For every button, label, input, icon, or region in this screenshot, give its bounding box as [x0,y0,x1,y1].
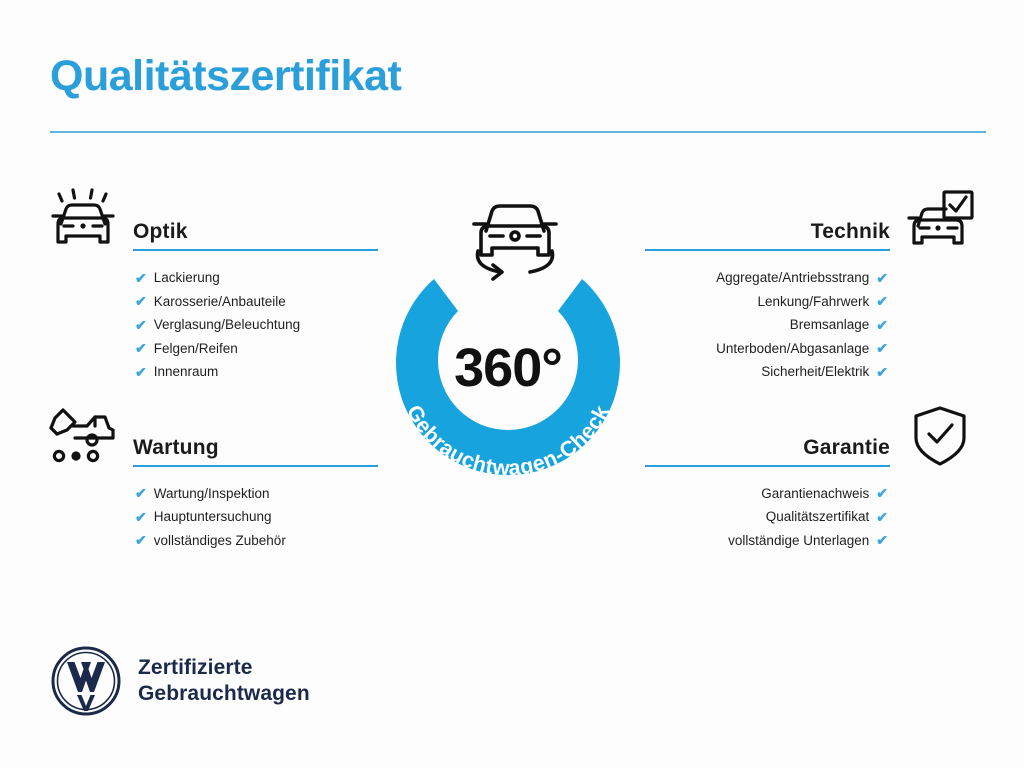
check-icon: ✔ [135,318,147,332]
vw-logo-line2: Gebrauchtwagen [138,681,310,707]
check-icon: ✔ [876,271,888,285]
list-item: ✔Wartung/Inspektion [135,482,465,506]
list-item-label: Hauptuntersuchung [154,505,272,529]
pencil-car-service-icon [45,404,121,470]
list-item-label: vollständige Unterlagen [728,529,869,553]
list-item-label: Unterboden/Abgasanlage [716,337,869,361]
car-front-headlights-icon [45,188,121,254]
certificate-page: Qualitätszertifikat [0,0,1024,768]
list-item-label: Wartung/Inspektion [154,482,270,506]
section-technik-title: Technik [811,220,890,244]
list-item-label: Qualitätszertifikat [766,505,870,529]
list-item-label: Sicherheit/Elektrik [761,360,869,384]
car-rotate-360-icon [460,193,570,293]
list-item-label: Verglasung/Beleuchtung [154,313,300,337]
section-garantie-title: Garantie [803,436,890,460]
check-icon: ✔ [135,294,147,308]
check-icon: ✔ [135,510,147,524]
list-item-label: Lackierung [154,266,220,290]
vw-logo-icon [50,645,122,717]
check-icon: ✔ [876,533,888,547]
list-item-label: Innenraum [154,360,219,384]
check-icon: ✔ [876,365,888,379]
check-icon: ✔ [135,271,147,285]
list-item-label: Garantienachweis [761,482,869,506]
shield-check-icon [902,404,978,470]
list-item: ✔vollständiges Zubehör [135,529,465,553]
check-icon: ✔ [876,486,888,500]
list-item-label: Lenkung/Fahrwerk [757,290,869,314]
vw-logo-line1: Zertifizierte [138,655,310,681]
section-wartung-title: Wartung [133,436,219,460]
section-optik-title: Optik [133,220,188,244]
check-icon: ✔ [876,294,888,308]
badge-number: 360° [372,337,644,399]
check-icon: ✔ [135,486,147,500]
check-icon: ✔ [135,341,147,355]
check-icon: ✔ [876,341,888,355]
section-wartung-underline [133,465,378,467]
section-technik-underline [645,249,890,251]
car-checkbox-inspection-icon [902,188,978,254]
page-title: Qualitätszertifikat [50,52,401,101]
check-icon: ✔ [876,318,888,332]
check-icon: ✔ [135,533,147,547]
vw-logo-text: Zertifizierte Gebrauchtwagen [138,655,310,707]
list-item-label: Aggregate/Antriebsstrang [716,266,869,290]
badge-360-check: Gebrauchtwagen-Check 360° [372,255,644,485]
list-item-label: Bremsanlage [790,313,870,337]
vw-footer-logo: Zertifizierte Gebrauchtwagen [50,645,310,717]
check-icon: ✔ [135,365,147,379]
section-garantie-underline [645,465,890,467]
list-item-label: Felgen/Reifen [154,337,238,361]
list-item: vollständige Unterlagen✔ [558,529,888,553]
list-item-label: vollständiges Zubehör [154,529,286,553]
list-item: Qualitätszertifikat✔ [558,505,888,529]
section-optik-underline [133,249,378,251]
list-item: Garantienachweis✔ [558,482,888,506]
list-item: ✔Hauptuntersuchung [135,505,465,529]
title-divider [50,131,986,133]
section-optik-header: Optik [45,200,465,256]
list-item-label: Karosserie/Anbauteile [154,290,286,314]
check-icon: ✔ [876,510,888,524]
section-technik-header: Technik [558,200,978,256]
